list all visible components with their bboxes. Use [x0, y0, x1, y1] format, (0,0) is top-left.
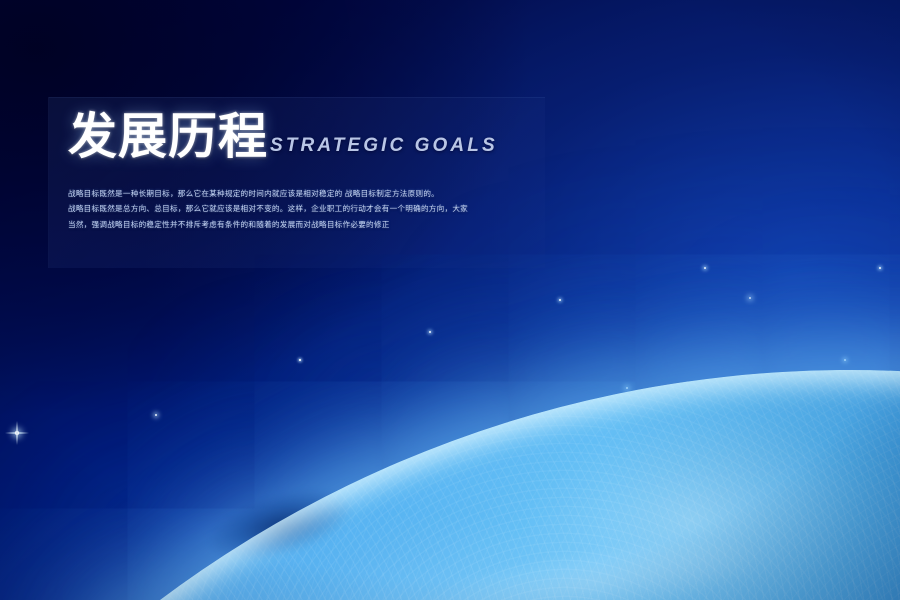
- description-line: 战略目标既然是总方向、总目标，那么它就应该是相对不变的。这样，企业职工的行动才会…: [68, 201, 538, 216]
- description-line: 当然，强调战略目标的稳定性并不排斥考虑有条件的和随着的发展而对战略目标作必要的修…: [68, 217, 538, 232]
- page-subtitle: STRATEGIC GOALS: [270, 135, 498, 161]
- headline-group: 发展历程 STRATEGIC GOALS: [68, 112, 498, 161]
- description-paragraph: 战略目标既然是一种长期目标，那么它在某种规定的时间内就应该是相对稳定的 战略目标…: [68, 186, 538, 232]
- strategic-goals-banner: 发展历程 STRATEGIC GOALS 战略目标既然是一种长期目标，那么它在某…: [0, 0, 900, 600]
- description-line: 战略目标既然是一种长期目标，那么它在某种规定的时间内就应该是相对稳定的 战略目标…: [68, 186, 538, 201]
- page-title: 发展历程: [68, 112, 268, 161]
